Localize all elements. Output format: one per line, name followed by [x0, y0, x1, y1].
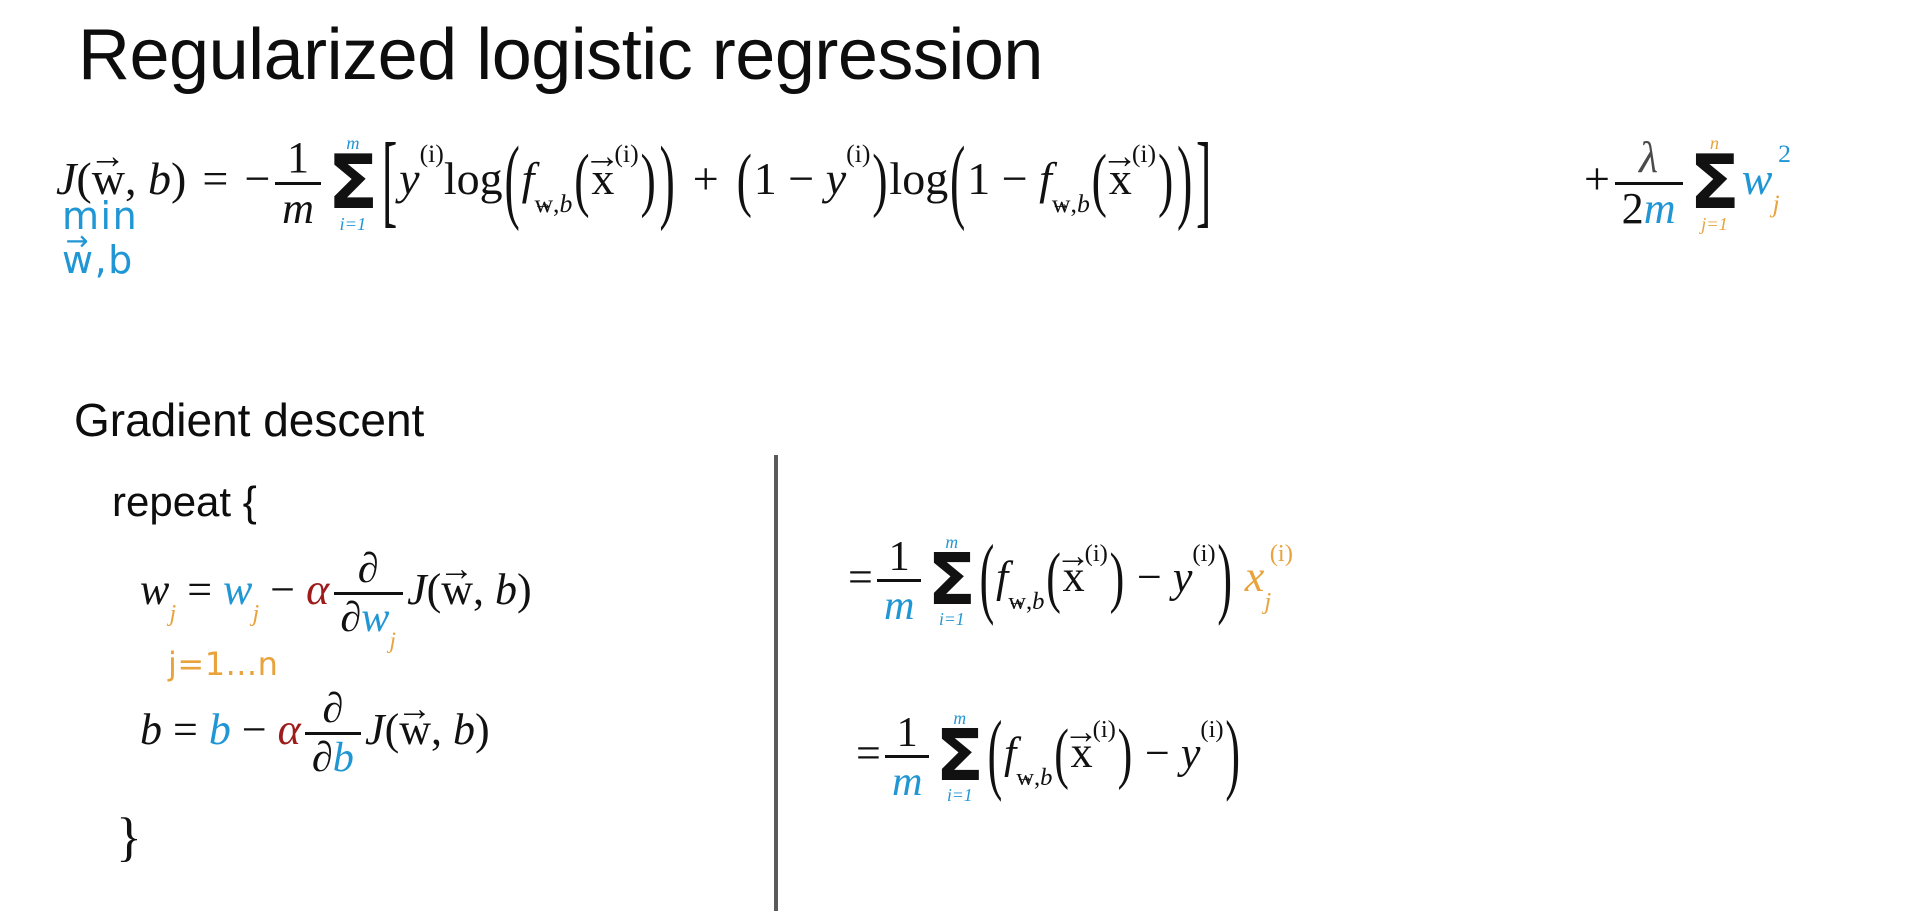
deriv-b-paren-open: ( — [988, 709, 1003, 799]
deriv-w-x-vector: →x — [1063, 555, 1085, 600]
J-w-vector: →w — [441, 567, 473, 612]
partial-denominator-w: ∂wj — [334, 592, 403, 640]
paren-close-3: ) — [872, 144, 887, 215]
two-m-denominator: 2m — [1615, 182, 1683, 232]
inner-minus-2: − — [1002, 153, 1028, 204]
one-over-m-fraction-b: 1m — [885, 712, 929, 804]
deriv-w-paren-close: ) — [1217, 533, 1232, 623]
paren-open-5: ( — [1092, 144, 1107, 215]
one-literal-2: 1 — [967, 153, 990, 204]
deriv-b-paren-open-2: ( — [1054, 720, 1069, 788]
w-lhs-subscript-j: j — [169, 600, 176, 627]
x-vector-1: →x — [591, 155, 614, 202]
partial-derivative-w-fraction: ∂∂wj — [334, 548, 403, 640]
inner-minus-1: − — [788, 153, 814, 204]
deriv-w-equals: = — [848, 552, 873, 601]
deriv-w-paren-close-2: ) — [1110, 544, 1125, 612]
w-lhs: wj — [140, 565, 176, 614]
partial-derivative-b-fraction: ∂∂b — [305, 688, 361, 780]
deriv-b-x-sup: (i) — [1093, 716, 1116, 743]
f-subscript-2: →w,b — [1052, 189, 1090, 218]
deriv-b-minus: − — [1145, 728, 1170, 777]
min-w-vector: →w — [62, 239, 95, 281]
b-equals: = — [173, 705, 198, 754]
deriv-b-paren-close: ) — [1225, 709, 1240, 799]
summation-i-b: mΣi=1 — [935, 710, 984, 805]
alpha-symbol-w: α — [306, 565, 329, 614]
w-rhs: wj — [223, 565, 259, 614]
bracket-open: [ — [382, 128, 397, 232]
log-2: log — [889, 153, 948, 204]
gradient-descent-heading: Gradient descent — [74, 393, 424, 447]
repeat-close-brace: } — [116, 806, 142, 868]
f-model-1: f — [522, 153, 535, 204]
x-term-subscript-j: j — [1264, 588, 1271, 615]
b-rhs: b — [209, 705, 231, 754]
paren-open-1: ( — [505, 133, 520, 227]
deriv-w-y: y — [1173, 552, 1193, 601]
cost-function-equation: J(→w, b) = −1mmΣi=1[y(i)log(f→w,b(→x(i))… — [56, 134, 1213, 233]
y-label-2: y — [826, 153, 846, 204]
deriv-b-equals: = — [856, 728, 881, 777]
summation-i-w: mΣi=1 — [927, 534, 976, 629]
x-j-i-term: xj(i) — [1245, 552, 1293, 601]
reg-plus: + — [1584, 153, 1610, 204]
bracket-close: ] — [1196, 128, 1211, 232]
sigma-icon: Σ — [927, 549, 976, 612]
deriv-b-x-vector: →x — [1071, 731, 1093, 776]
deriv-w-y-sup: (i) — [1192, 540, 1215, 567]
y-superscript-i-2: (i) — [846, 139, 870, 168]
repeat-open-label: repeat { — [112, 478, 257, 526]
w-squared-term: wj2 — [1742, 153, 1791, 204]
paren-close-5: ) — [1158, 144, 1173, 215]
w-update-equation: wj = wj − α∂∂wjJ(→w, b) — [140, 548, 532, 640]
cost-b: b — [148, 153, 171, 204]
deriv-w-paren-open: ( — [980, 533, 995, 623]
partial-numerator-b: ∂ — [316, 688, 350, 732]
cost-minus: − — [244, 153, 270, 204]
paren-close-2: ) — [640, 144, 655, 215]
x-term-superscript-i: (i) — [1270, 540, 1293, 567]
min-annotation-line1: min — [62, 196, 138, 237]
alpha-symbol-b: α — [278, 705, 301, 754]
partial-numerator: ∂ — [351, 548, 385, 592]
column-divider — [774, 455, 778, 911]
deriv-b-f: f — [1004, 728, 1016, 777]
log-1: log — [444, 153, 503, 204]
deriv-b-f-subscript: →w,b — [1016, 764, 1052, 791]
one-over-m-fraction: 1m — [275, 136, 321, 232]
partial-denominator-b: ∂b — [305, 732, 361, 780]
page-title: Regularized logistic regression — [78, 14, 1043, 96]
b-update-equation: b = b − α∂∂bJ(→w, b) — [140, 688, 490, 780]
x-superscript-i-1: (i) — [614, 139, 638, 168]
b-minus: − — [242, 705, 267, 754]
w-subscript-j: j — [1772, 189, 1779, 218]
min-annotation-line2: →w,b — [62, 239, 138, 281]
cost-equals: = — [198, 153, 233, 204]
cost-plus: + — [688, 153, 723, 204]
summation-i: mΣi=1 — [327, 134, 378, 233]
paren-open-2: ( — [574, 144, 589, 215]
min-annotation: min →w,b — [62, 196, 138, 281]
J-b-w-vector: →w — [399, 707, 431, 752]
deriv-w-paren-open-2: ( — [1046, 544, 1061, 612]
one-literal: 1 — [754, 153, 777, 204]
y-label: y — [399, 153, 419, 204]
deriv-b-y: y — [1181, 728, 1201, 777]
deriv-w-minus: − — [1137, 552, 1162, 601]
x-superscript-i-2: (i) — [1132, 139, 1156, 168]
w-rhs-subscript-j: j — [252, 600, 259, 627]
f-model-2: f — [1039, 153, 1052, 204]
deriv-w-x-sup: (i) — [1085, 540, 1108, 567]
f-subscript-1: →w,b — [534, 189, 572, 218]
b-lhs: b — [140, 705, 162, 754]
paren-close-1: ) — [659, 133, 674, 227]
J-symbol-b: J — [365, 705, 385, 754]
derivative-b-expression: =1mmΣi=1(f→w,b(→x(i)) − y(i)) — [856, 710, 1242, 805]
paren-open-4: ( — [950, 133, 965, 227]
lambda-over-2m-fraction: λ2m — [1615, 136, 1683, 232]
regularization-term: +λ2mnΣj=1wj2 — [1584, 134, 1791, 233]
sigma-icon: Σ — [935, 725, 984, 788]
w-equals: = — [187, 565, 212, 614]
derivative-w-expression: =1mmΣi=1(f→w,b(→x(i)) − y(i)) xj(i) — [848, 534, 1293, 629]
w-superscript-2: 2 — [1778, 139, 1791, 168]
x-vector-2: →x — [1109, 155, 1132, 202]
J-symbol-w: J — [407, 565, 427, 614]
deriv-w-f: f — [996, 552, 1008, 601]
j-range-annotation: j=1...n — [168, 645, 278, 683]
cost-paren-close: ) — [171, 153, 186, 204]
paren-close-4: ) — [1177, 133, 1192, 227]
summation-j: nΣj=1 — [1689, 134, 1740, 233]
w-minus: − — [270, 565, 295, 614]
deriv-w-f-subscript: →w,b — [1008, 588, 1044, 615]
y-superscript-i: (i) — [420, 139, 444, 168]
one-over-m-fraction-w: 1m — [877, 536, 921, 628]
paren-open-3: ( — [737, 144, 752, 215]
deriv-b-paren-close-2: ) — [1118, 720, 1133, 788]
sigma-icon: Σ — [327, 150, 378, 216]
deriv-b-y-sup: (i) — [1200, 716, 1223, 743]
sigma-icon: Σ — [1689, 150, 1740, 216]
lambda-symbol: λ — [1632, 136, 1665, 182]
